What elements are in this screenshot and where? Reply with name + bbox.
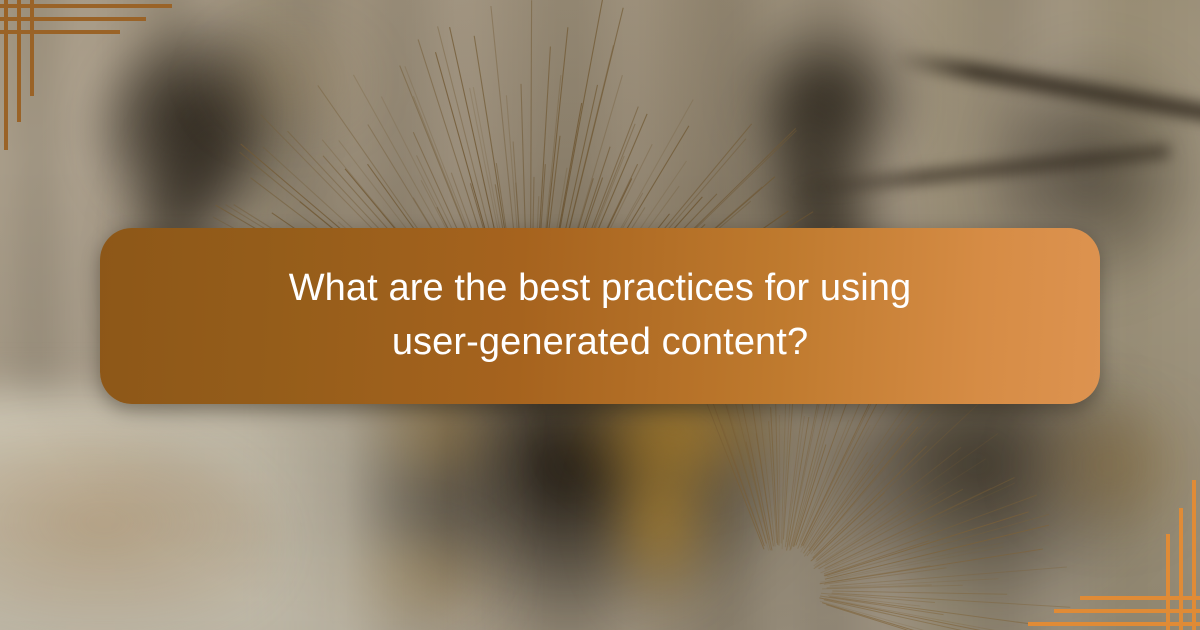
corner-frame-top-left [0, 0, 172, 150]
frame-line-horizontal-2 [0, 17, 146, 21]
corner-frame-bottom-right [1028, 480, 1200, 630]
frame-line-vertical-1 [4, 0, 8, 150]
frame-line-vertical-3 [30, 0, 34, 96]
banner-title-line-1: What are the best practices for using [289, 262, 912, 316]
banner-title-line-2: user-generated content? [289, 316, 912, 370]
title-banner: What are the best practices for using us… [100, 228, 1100, 404]
frame-line-horizontal-1 [0, 4, 172, 8]
frame-line-vertical-2 [1179, 508, 1183, 630]
frame-line-horizontal-1 [1028, 622, 1200, 626]
frame-line-vertical-1 [1192, 480, 1196, 630]
frame-line-vertical-2 [17, 0, 21, 122]
frame-line-vertical-3 [1166, 534, 1170, 630]
social-card: What are the best practices for using us… [0, 0, 1200, 630]
banner-title: What are the best practices for using us… [249, 262, 952, 370]
